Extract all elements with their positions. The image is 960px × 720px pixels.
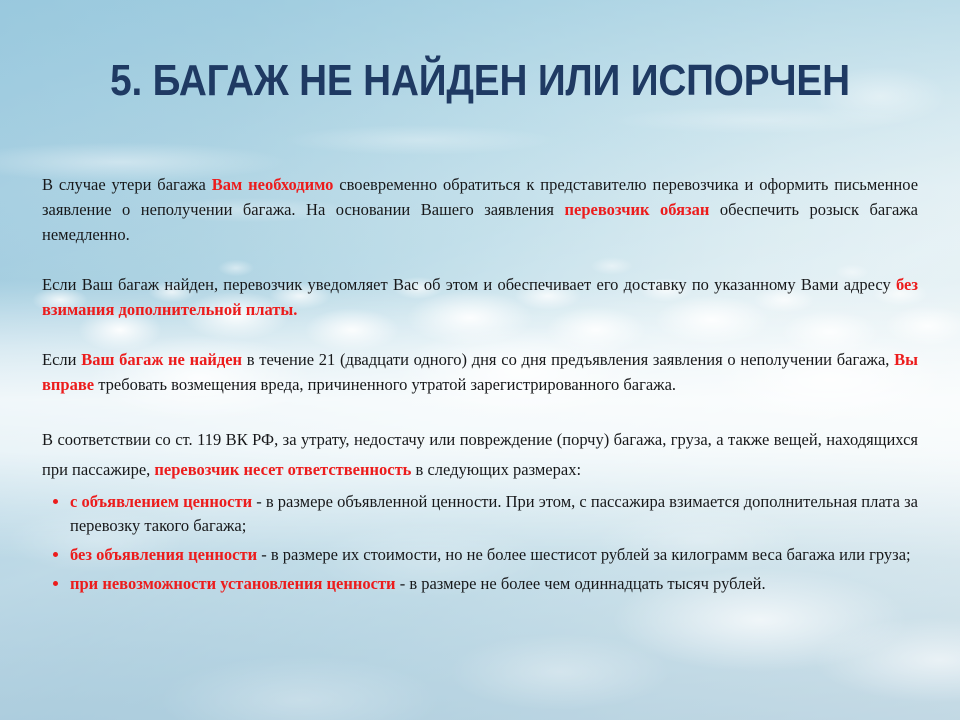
bullet-dot-icon: [53, 499, 58, 504]
list-item-text: без объявления ценности - в размере их с…: [70, 545, 911, 564]
list-item: без объявления ценности - в размере их с…: [42, 543, 918, 567]
list-item-text: с объявлением ценности - в размере объяв…: [70, 492, 918, 535]
body-text: в течение 21 (двадцати одного) дня со дн…: [242, 350, 894, 369]
body-text: в следующих размерах:: [411, 460, 581, 479]
emphasis-text: Ваш багаж не найден: [81, 350, 242, 369]
slide-title: 5. БАГАЖ НЕ НАЙДЕН ИЛИ ИСПОРЧЕН: [58, 57, 903, 105]
body-text: - в размере не более чем одиннадцать тыс…: [396, 574, 766, 593]
emphasis-text: перевозчик обязан: [565, 200, 710, 219]
bullet-dot-icon: [53, 581, 58, 586]
slide-body: В случае утери багажа Вам необходимо сво…: [42, 172, 918, 596]
body-text: требовать возмещения вреда, причиненного…: [94, 375, 676, 394]
list-item-text: при невозможности установления ценности …: [70, 574, 766, 593]
paragraph-3: Если Ваш багаж не найден в течение 21 (д…: [42, 347, 918, 397]
emphasis-text: без объявления ценности: [70, 545, 257, 564]
body-text: Если Ваш багаж найден, перевозчик уведом…: [42, 275, 896, 294]
emphasis-text: перевозчик несет ответственность: [154, 460, 411, 479]
body-text: Если: [42, 350, 81, 369]
paragraph-2: Если Ваш багаж найден, перевозчик уведом…: [42, 272, 918, 322]
paragraph-1: В случае утери багажа Вам необходимо сво…: [42, 172, 918, 247]
paragraph-4: В соответствии со ст. 119 ВК РФ, за утра…: [42, 425, 918, 485]
emphasis-text: при невозможности установления ценности: [70, 574, 396, 593]
body-text: - в размере их стоимости, но не более ше…: [257, 545, 910, 564]
body-text: В случае утери багажа: [42, 175, 212, 194]
liability-list: с объявлением ценности - в размере объяв…: [42, 490, 918, 596]
presentation-slide: 5. БАГАЖ НЕ НАЙДЕН ИЛИ ИСПОРЧЕН В случае…: [0, 0, 960, 720]
emphasis-text: Вам необходимо: [212, 175, 334, 194]
bullet-dot-icon: [53, 552, 58, 557]
list-item: с объявлением ценности - в размере объяв…: [42, 490, 918, 538]
list-item: при невозможности установления ценности …: [42, 572, 918, 596]
emphasis-text: с объявлением ценности: [70, 492, 252, 511]
